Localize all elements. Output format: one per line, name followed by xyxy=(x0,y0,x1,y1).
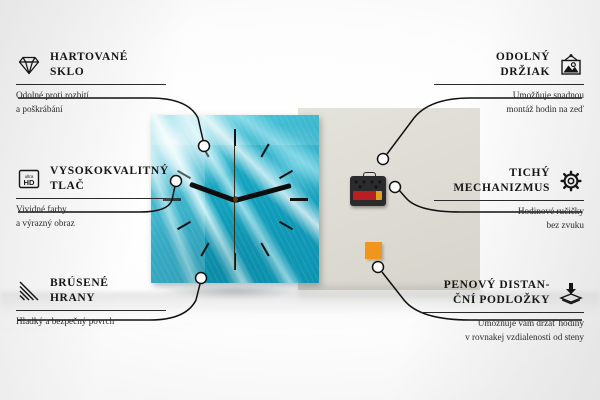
feature-title-line1: BRÚSENÉ xyxy=(50,276,109,291)
feature-divider xyxy=(420,312,584,313)
feature-title-line2: SKLO xyxy=(50,65,128,80)
feature-title-line2: TLAČ xyxy=(50,179,169,194)
feature-divider xyxy=(16,310,166,311)
feature-title-line1: PENOVÝ DISTAN- xyxy=(420,278,550,293)
feature-divider xyxy=(434,84,584,85)
feature-title-line1: TICHÝ xyxy=(434,166,550,181)
feature-foam-spacers: PENOVÝ DISTAN- ČNÍ PODLOŽKY Umožňuje vám… xyxy=(420,278,584,344)
product-infographic: HARTOVANÉ SKLO Odolné proti rozbití a po… xyxy=(0,0,600,400)
feature-desc-line1: Hladký a bezpečný povrch xyxy=(16,315,166,328)
feature-desc-line1: Umožňuje vám držať hodiny xyxy=(420,317,584,330)
feature-tempered-glass: HARTOVANÉ SKLO Odolné proti rozbití a po… xyxy=(16,50,166,116)
feature-title-line1: ODOLNÝ xyxy=(434,50,550,65)
feature-header: TICHÝ MECHANIZMUS xyxy=(434,166,584,196)
feature-desc-line1: Umožňuje snadnou xyxy=(434,89,584,102)
feature-desc-line1: Hodinové ručičky xyxy=(434,205,584,218)
feature-title-line2: MECHANIZMUS xyxy=(434,181,550,196)
feature-title-line1: VYSOKOKVALITNÝ xyxy=(50,164,169,179)
feature-divider xyxy=(434,200,584,201)
feature-desc-line2: v rovnakej vzdialenosti od steny xyxy=(420,331,584,344)
ultra-hd-badge-icon: ultra HD xyxy=(16,167,42,191)
feature-header: ODOLNÝ DRŽIAK xyxy=(434,50,584,80)
feature-desc-line2: montáž hodin na zeď xyxy=(434,103,584,116)
feature-title-line2: ČNÍ PODLOŽKY xyxy=(420,293,550,308)
feature-high-quality-print: ultra HD VYSOKOKVALITNÝ TLAČ Vividné far… xyxy=(16,164,166,230)
feature-divider xyxy=(16,84,166,85)
feature-header: BRÚSENÉ HRANY xyxy=(16,276,166,306)
gear-icon xyxy=(558,169,584,193)
feature-polished-edges: BRÚSENÉ HRANY Hladký a bezpečný povrch xyxy=(16,276,166,329)
svg-text:HD: HD xyxy=(24,178,35,187)
feature-desc-line1: Odolné proti rozbití xyxy=(16,89,166,102)
feature-header: PENOVÝ DISTAN- ČNÍ PODLOŽKY xyxy=(420,278,584,308)
diamond-icon xyxy=(16,53,42,77)
feature-header: ultra HD VYSOKOKVALITNÝ TLAČ xyxy=(16,164,166,194)
feature-header: HARTOVANÉ SKLO xyxy=(16,50,166,80)
feature-title-line2: DRŽIAK xyxy=(434,65,550,80)
picture-hanger-icon xyxy=(558,53,584,77)
feature-title-line2: HRANY xyxy=(50,291,109,306)
foam-pad-icon xyxy=(558,281,584,305)
polished-edge-icon xyxy=(16,279,42,303)
feature-title-line1: HARTOVANÉ xyxy=(50,50,128,65)
feature-desc-line2: a poškrábání xyxy=(16,103,166,116)
feature-divider xyxy=(16,198,166,199)
feature-desc-line1: Vividné farby xyxy=(16,203,166,216)
feature-desc-line2: bez zvuku xyxy=(434,219,584,232)
feature-desc-line2: a výrazný obraz xyxy=(16,217,166,230)
feature-durable-hanger: ODOLNÝ DRŽIAK Umožňuje snadnou montáž ho… xyxy=(434,50,584,116)
feature-silent-mechanism: TICHÝ MECHANIZMUS H xyxy=(434,166,584,232)
